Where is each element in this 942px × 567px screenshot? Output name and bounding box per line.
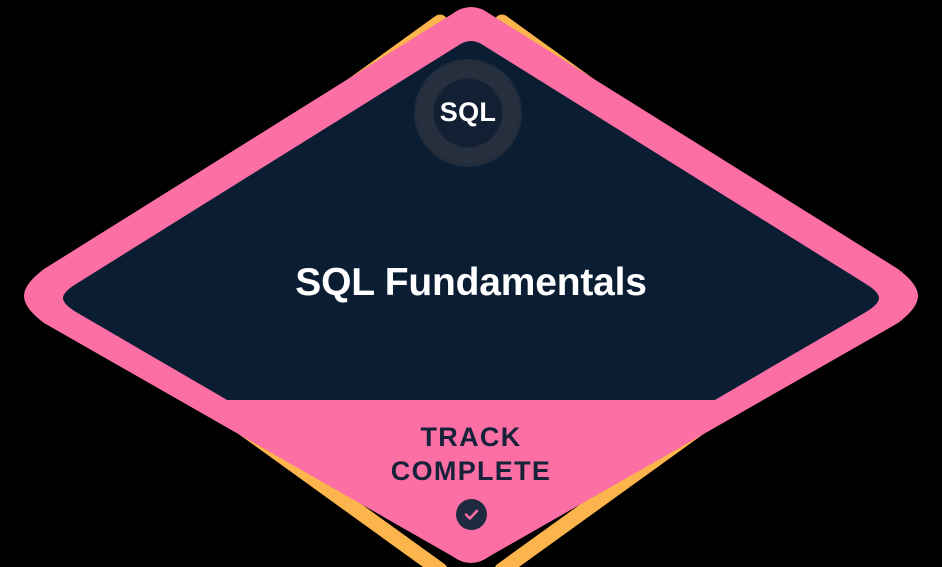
track-completion-badge[interactable]: SQL SQL Fundamentals TRACK COMPLETE [0,0,942,567]
badge-shape-artwork [0,0,942,567]
